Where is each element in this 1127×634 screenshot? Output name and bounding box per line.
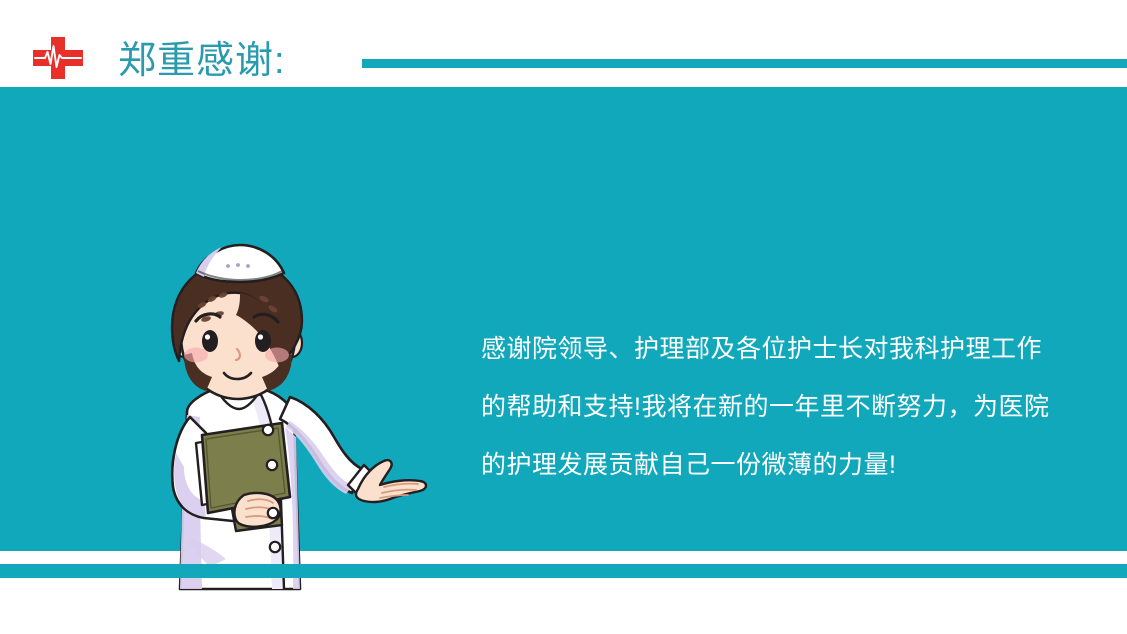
title-underline-rule: [362, 59, 1127, 68]
medical-cross-ecg-icon: [33, 37, 83, 79]
slide-header: 郑重感谢:: [0, 0, 1127, 87]
footer-accent-bar: [0, 564, 1127, 578]
paragraph-line-1: 感谢院领导、护理部及各位护士长对我科护理工作: [481, 320, 1041, 378]
paragraph-line-2: 的帮助和支持!我将在新的一年里不断努力，为医院: [481, 378, 1041, 436]
thank-you-paragraph: 感谢院领导、护理部及各位护士长对我科护理工作 的帮助和支持!我将在新的一年里不断…: [481, 320, 1041, 494]
page-title: 郑重感谢:: [118, 35, 358, 87]
nurse-character-illustration: [140, 237, 440, 617]
paragraph-line-3: 的护理发展贡献自己一份微薄的力量!: [481, 436, 1041, 494]
main-content-panel: 感谢院领导、护理部及各位护士长对我科护理工作 的帮助和支持!我将在新的一年里不断…: [0, 87, 1127, 551]
slide-canvas: 郑重感谢:: [0, 0, 1127, 634]
